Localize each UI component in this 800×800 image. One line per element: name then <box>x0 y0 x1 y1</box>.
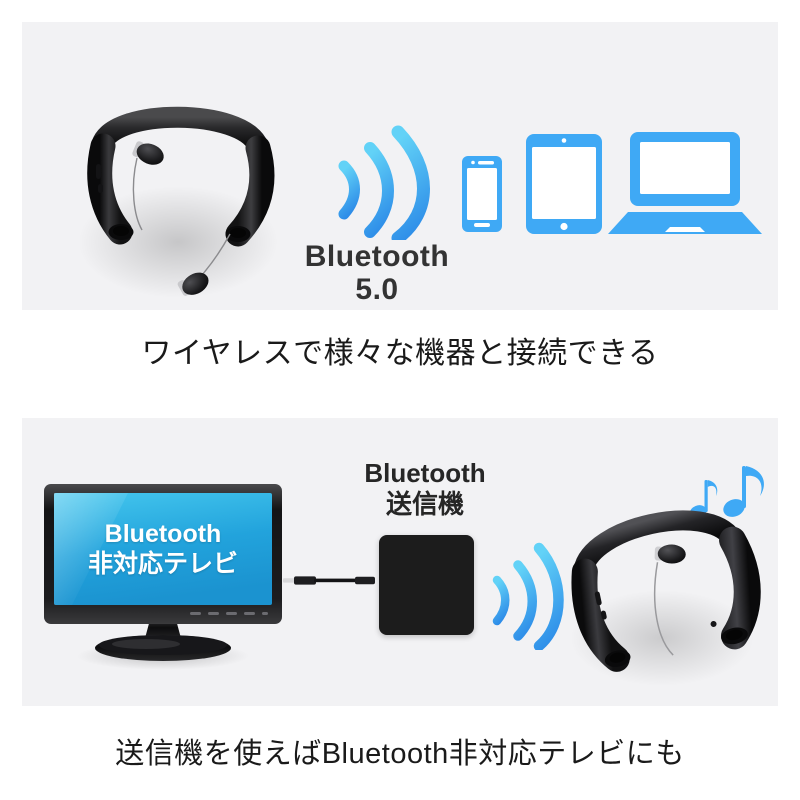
tablet-icon <box>526 134 602 234</box>
panel-wireless-connectivity: Bluetooth 5.0 <box>22 22 778 310</box>
usb-audio-cable <box>283 572 383 581</box>
transmitter-label-line1: Bluetooth <box>364 458 485 488</box>
television: Bluetooth 非対応テレビ <box>38 478 288 678</box>
bluetooth-name: Bluetooth <box>305 240 449 273</box>
bluetooth-signal-waves-icon <box>314 122 440 240</box>
bluetooth-label: Bluetooth 5.0 <box>292 240 462 306</box>
transmitter-label: Bluetooth 送信機 <box>330 458 520 520</box>
tv-screen-line2: 非対応テレビ <box>88 549 238 579</box>
bluetooth-signal-waves-icon-bottom <box>485 532 565 650</box>
neckband-headset-photo-top <box>62 92 294 310</box>
neckband-headset-photo-bottom <box>556 498 768 688</box>
tv-screen-line1: Bluetooth <box>105 519 222 549</box>
compatible-devices-group <box>458 126 768 244</box>
transmitter-label-line2: 送信機 <box>330 489 520 520</box>
laptop-icon <box>608 132 762 234</box>
tv-screen-text: Bluetooth 非対応テレビ <box>54 493 272 605</box>
caption-transmitter: 送信機を使えばBluetooth非対応テレビにも <box>0 730 800 772</box>
bluetooth-badge: Bluetooth 5.0 <box>292 122 462 310</box>
bluetooth-version: 5.0 <box>292 273 462 306</box>
smartphone-icon <box>462 156 502 232</box>
caption-wireless: ワイヤレスで様々な機器と接続できる <box>0 328 800 372</box>
bluetooth-transmitter-box <box>379 535 474 635</box>
